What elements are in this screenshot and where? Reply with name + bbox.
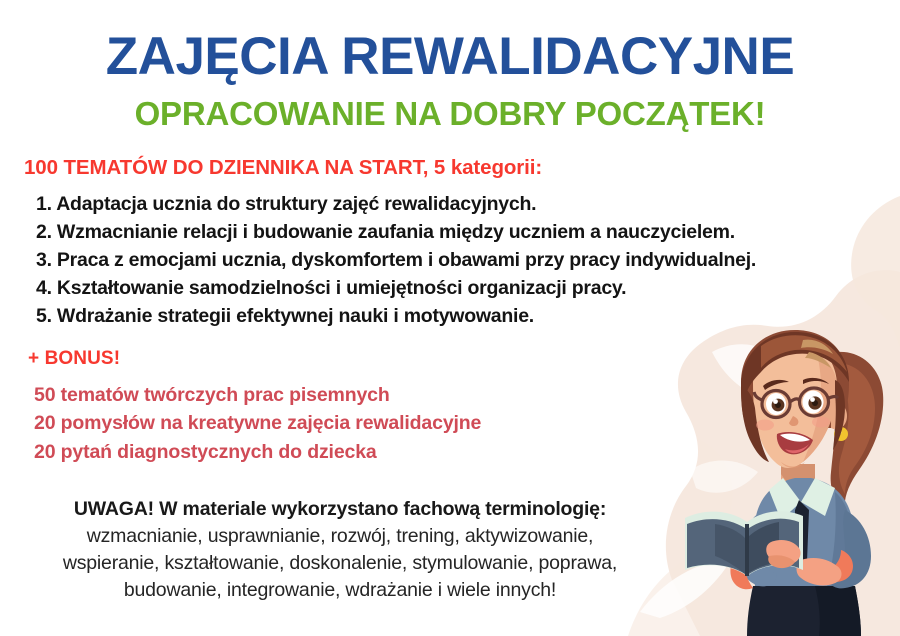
page-title: ZAJĘCIA REWALIDACYJNE [0,0,900,84]
topic-list: 1. Adaptacja ucznia do struktury zajęć r… [0,179,900,330]
list-item: 1. Adaptacja ucznia do struktury zajęć r… [36,190,900,218]
list-item: 5. Wdrażanie strategii efektywnej nauki … [36,302,900,330]
list-item: 50 tematów twórczych prac pisemnych [34,381,900,409]
note-heading: UWAGA! W materiale wykorzystano fachową … [0,497,680,523]
poster-content: ZAJĘCIA REWALIDACYJNE OPRACOWANIE NA DOB… [0,0,900,636]
poster-canvas: ZAJĘCIA REWALIDACYJNE OPRACOWANIE NA DOB… [0,0,900,636]
list-item: 20 pomysłów na kreatywne zajęcia rewalid… [34,409,900,437]
list-item: 3. Praca z emocjami ucznia, dyskomfortem… [36,246,900,274]
bonus-list: 50 tematów twórczych prac pisemnych 20 p… [0,368,900,466]
bonus-heading: + BONUS! [0,330,900,368]
page-subtitle: OPRACOWANIE NA DOBRY POCZĄTEK! [0,84,900,130]
list-item: 2. Wzmacnianie relacji i budowanie zaufa… [36,218,900,246]
topics-section-heading: 100 TEMATÓW DO DZIENNIKA NA START, 5 kat… [0,130,900,179]
list-item: 4. Kształtowanie samodzielności i umieję… [36,274,900,302]
note-line: wspieranie, kształtowanie, doskonalenie,… [0,550,680,577]
note-line: budowanie, integrowanie, wdrażanie i wie… [0,577,680,604]
terminology-note: UWAGA! W materiale wykorzystano fachową … [0,466,680,603]
note-line: wzmacnianie, usprawnianie, rozwój, treni… [0,523,680,550]
list-item: 20 pytań diagnostycznych do dziecka [34,438,900,466]
